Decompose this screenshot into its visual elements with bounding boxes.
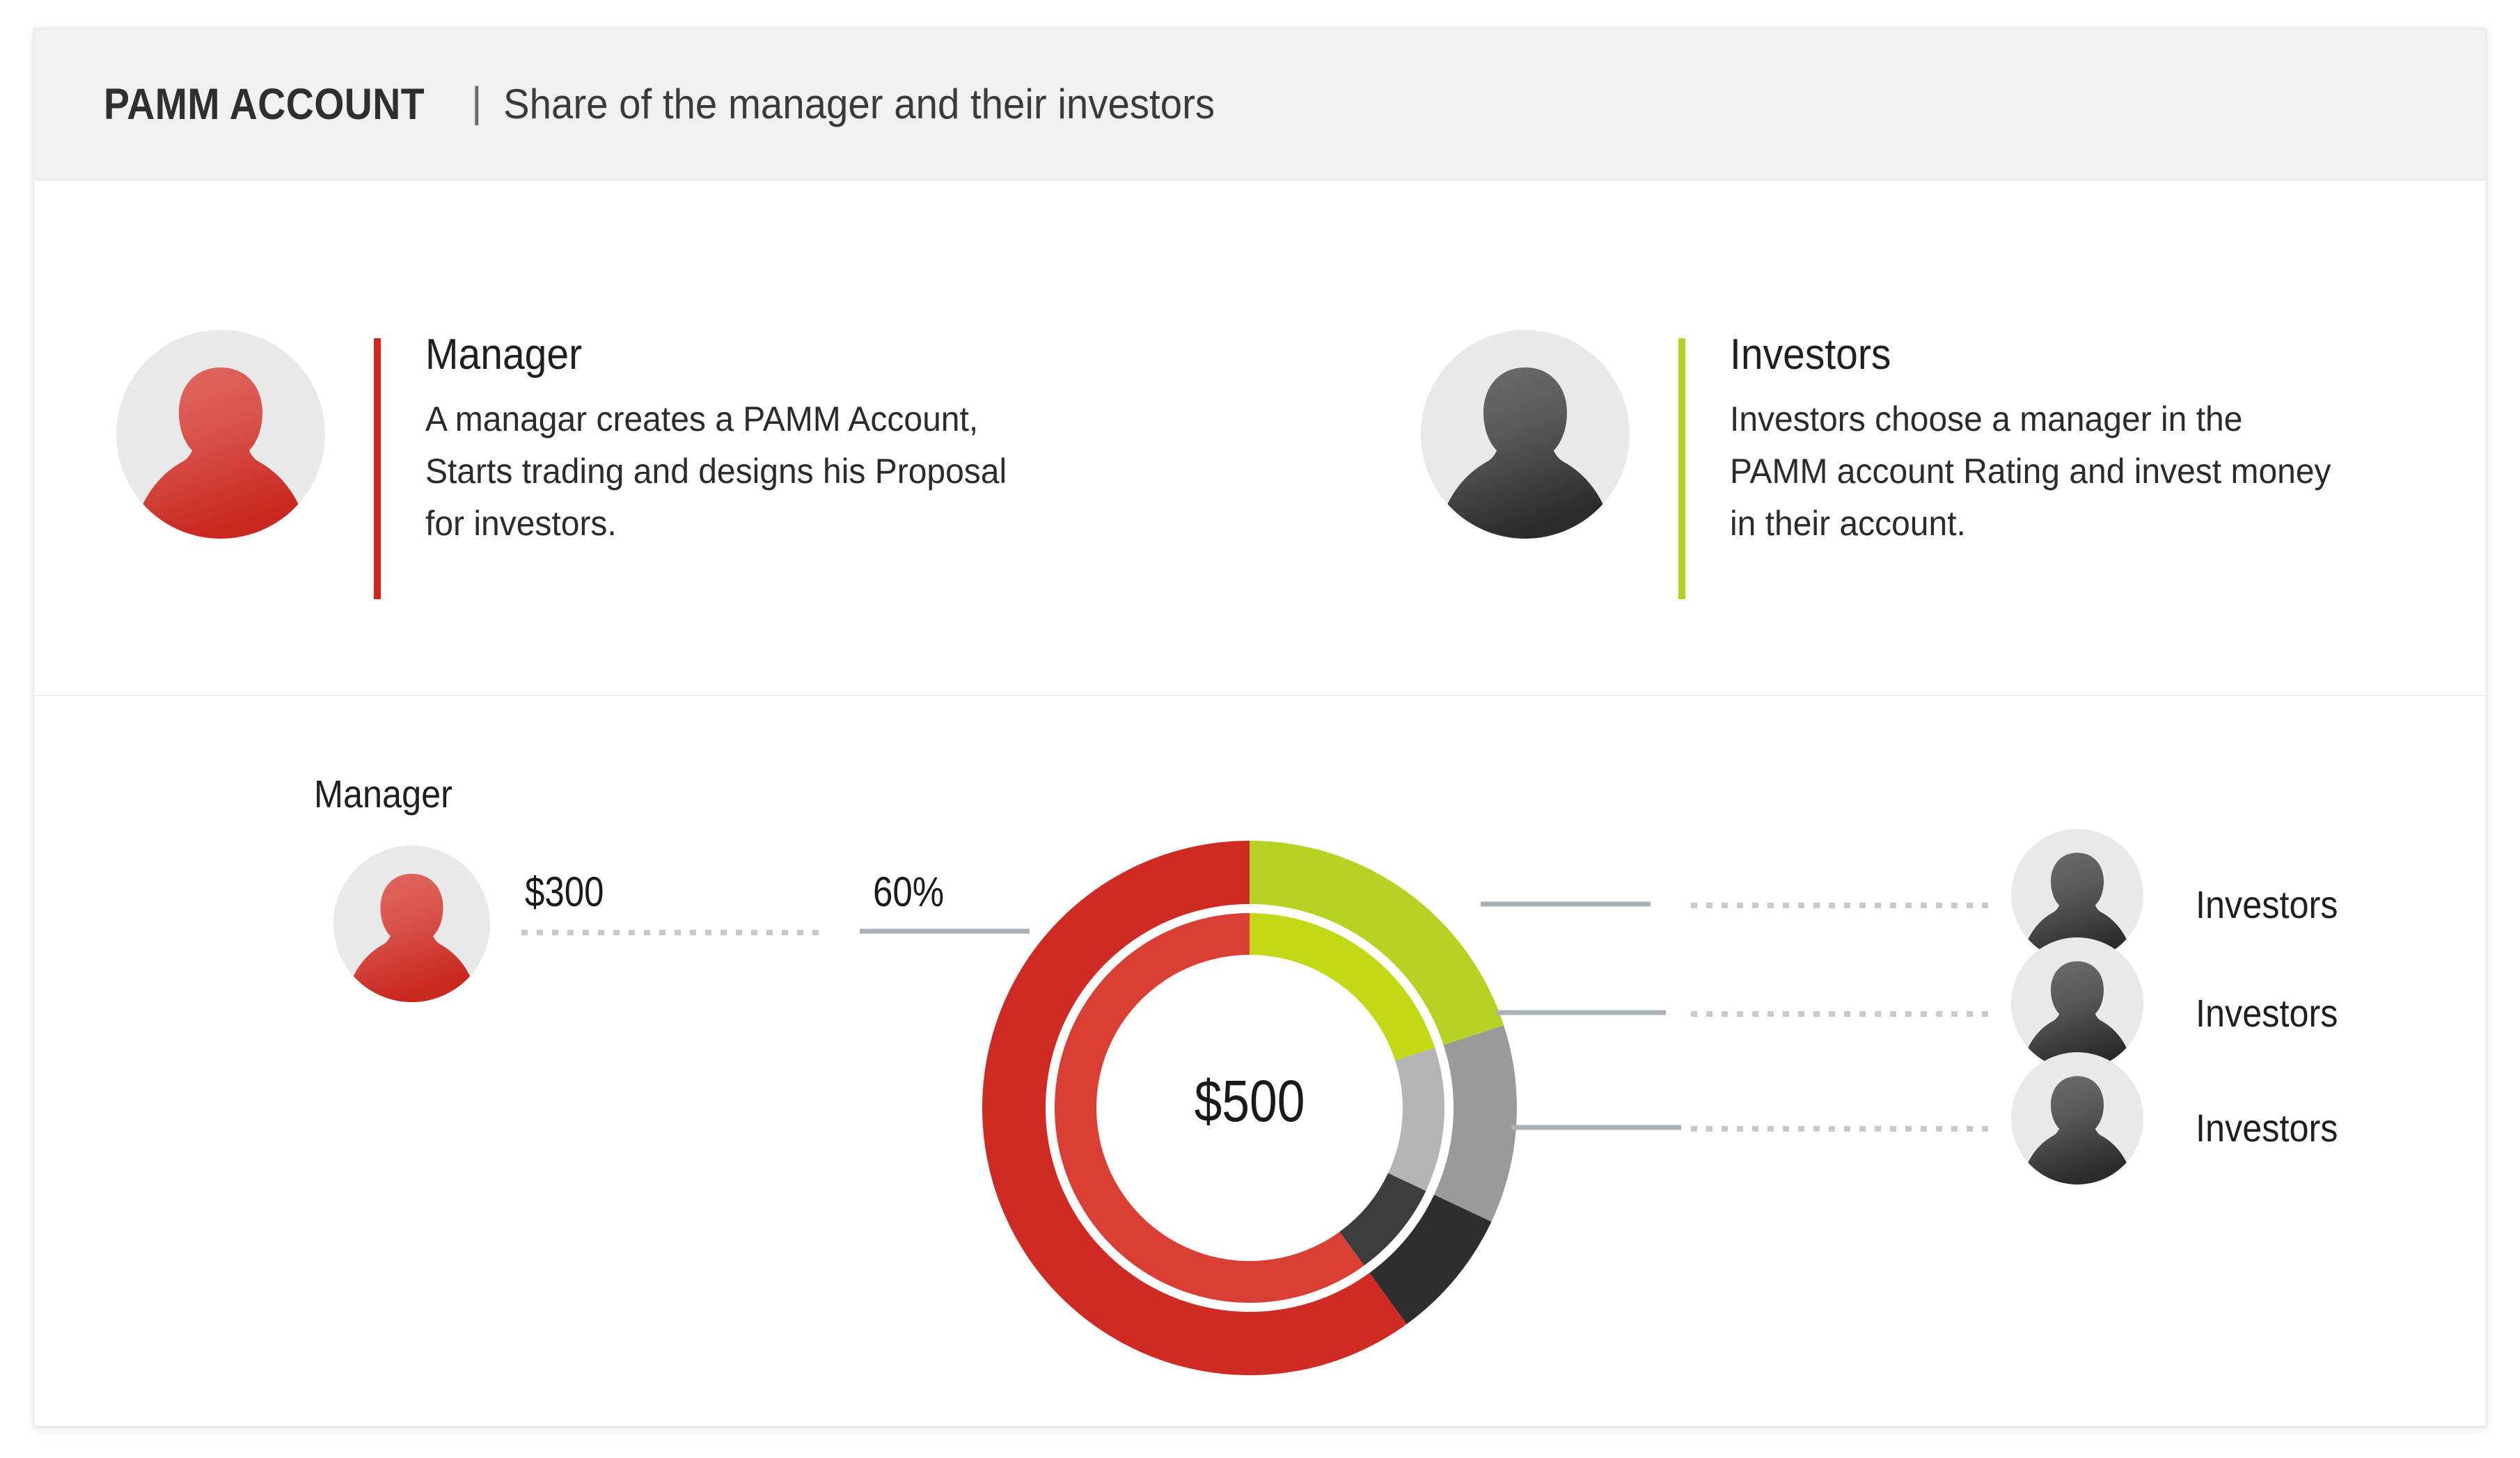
role-desc-line: Starts trading and designs his Proposal bbox=[425, 445, 1007, 498]
page-subtitle: Share of the manager and their investors bbox=[503, 80, 1215, 128]
person-avatar-icon bbox=[1421, 330, 1630, 539]
chart-investor-label: Investors bbox=[2196, 990, 2338, 1036]
role-card-manager: Manager A managar creates a PAMM Account… bbox=[116, 330, 1031, 696]
role-desc-line: Investors choose a manager in the bbox=[1730, 393, 2331, 445]
role-desc-line: in their account. bbox=[1730, 498, 2331, 550]
role-text-investors: Investors Investors choose a manager in … bbox=[1730, 330, 2356, 550]
chart-area: Manager $300 60% 20% $100 Investors 12% … bbox=[34, 696, 2486, 1427]
person-avatar-icon bbox=[2011, 937, 2143, 1070]
chart-center-amount: $500 bbox=[216, 1068, 2283, 1135]
chart-manager-amount: $300 bbox=[525, 868, 604, 916]
role-card-investors: Investors Investors choose a manager in … bbox=[1421, 330, 2356, 696]
page-title: PAMM ACCOUNT bbox=[104, 79, 425, 129]
role-accent-bar-investors bbox=[1678, 338, 1685, 599]
role-title: Investors bbox=[1730, 330, 2306, 379]
chart-manager-label: Manager bbox=[314, 771, 452, 816]
infographic-card: PAMM ACCOUNT | Share of the manager and … bbox=[33, 28, 2487, 1427]
person-avatar-icon bbox=[333, 846, 490, 1002]
chart-investor-label: Investors bbox=[2196, 882, 2338, 927]
roles-band: Manager A managar creates a PAMM Account… bbox=[34, 181, 2486, 696]
role-desc-line: PAMM account Rating and invest money bbox=[1730, 445, 2331, 498]
role-title: Manager bbox=[425, 330, 982, 379]
role-desc-line: A managar creates a PAMM Account, bbox=[425, 393, 1007, 445]
person-avatar-icon bbox=[116, 330, 325, 539]
role-text-manager: Manager A managar creates a PAMM Account… bbox=[425, 330, 1031, 550]
chart-manager-percent: 60% bbox=[873, 868, 944, 916]
role-desc-line: for investors. bbox=[425, 498, 1007, 550]
card-header: PAMM ACCOUNT | Share of the manager and … bbox=[34, 29, 2486, 180]
role-accent-bar-manager bbox=[374, 338, 381, 599]
title-separator: | bbox=[471, 78, 482, 126]
